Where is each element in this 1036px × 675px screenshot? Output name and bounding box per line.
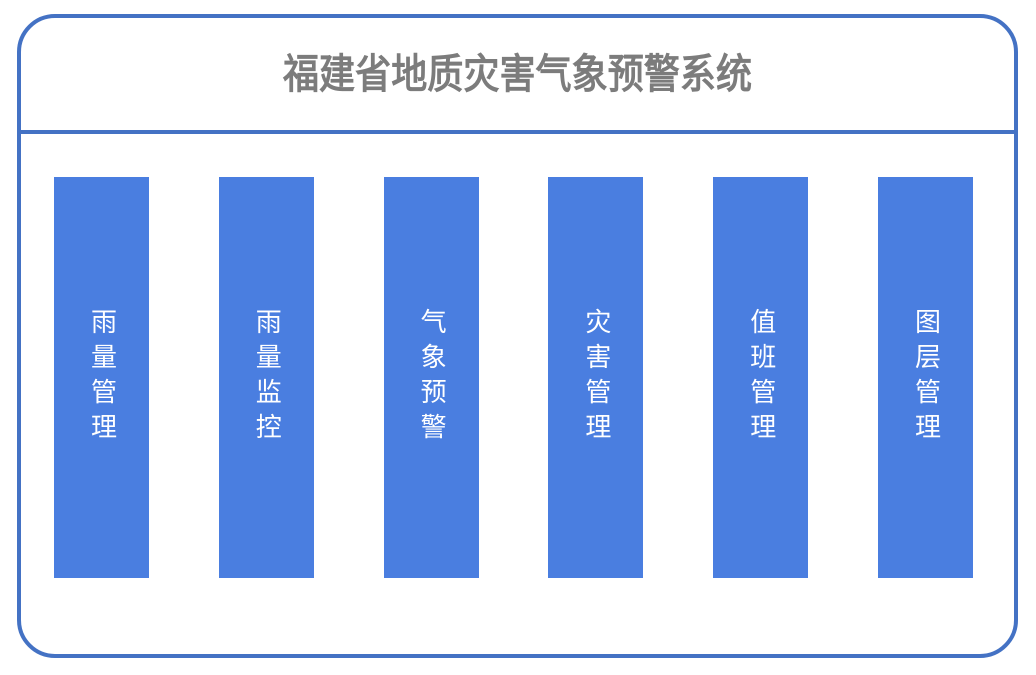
module-label: 雨量监控 bbox=[248, 308, 284, 448]
module-label: 值班管理 bbox=[743, 308, 779, 448]
module-label: 灾害管理 bbox=[578, 308, 614, 448]
module-bar-rainfall-management[interactable]: 雨量管理 bbox=[54, 177, 149, 578]
module-bar-duty-management[interactable]: 值班管理 bbox=[713, 177, 808, 578]
module-bar-weather-warning[interactable]: 气象预警 bbox=[384, 177, 479, 578]
module-label: 气象预警 bbox=[413, 308, 449, 448]
module-area: 雨量管理 雨量监控 气象预警 灾害管理 值班管理 图层管理 bbox=[21, 138, 1014, 654]
module-bar-list: 雨量管理 雨量监控 气象预警 灾害管理 值班管理 图层管理 bbox=[54, 177, 973, 578]
system-frame: 福建省地质灾害气象预警系统 雨量管理 雨量监控 气象预警 灾害管理 值班管理 图… bbox=[17, 14, 1018, 658]
system-header: 福建省地质灾害气象预警系统 bbox=[21, 18, 1014, 134]
module-bar-disaster-management[interactable]: 灾害管理 bbox=[548, 177, 643, 578]
module-bar-rainfall-monitoring[interactable]: 雨量监控 bbox=[219, 177, 314, 578]
module-bar-layer-management[interactable]: 图层管理 bbox=[878, 177, 973, 578]
page-title: 福建省地质灾害气象预警系统 bbox=[283, 54, 752, 95]
module-label: 图层管理 bbox=[907, 308, 943, 448]
module-label: 雨量管理 bbox=[84, 308, 120, 448]
